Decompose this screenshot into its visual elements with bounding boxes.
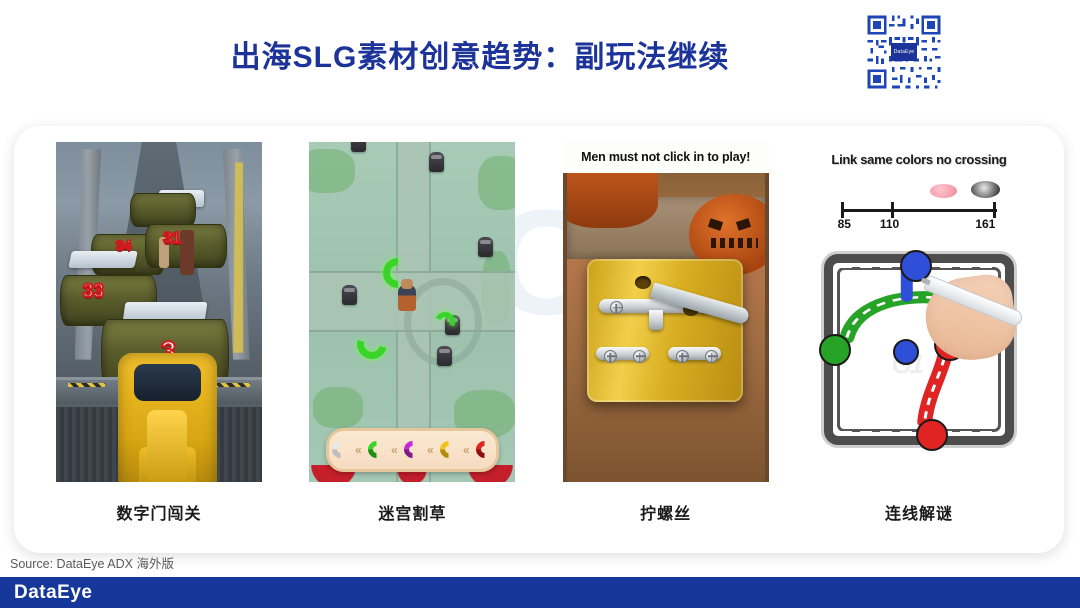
meter-tick [993,202,996,218]
enemy-ninja [342,285,357,305]
chevron-left-icon: « [427,443,434,457]
pumpkin-icon [567,173,658,229]
thumbnail-caption-4: 连线解谜 [885,500,953,524]
mech-robot [118,353,217,482]
link-puzzle-thumbnail[interactable]: Link same colors no crossing 85 110 161 [816,142,1022,482]
puzzle-headline: Link same colors no crossing [816,152,1022,167]
metal-plate [649,310,663,330]
thumbnail-cell-1[interactable]: 33 34 31 3 数字门闯关 [56,142,262,553]
thumbnail-caption-1: 数字门闯关 [116,500,201,524]
blade-slot-yellow[interactable] [436,438,460,462]
screw-icon[interactable] [705,350,718,363]
pumpkin-mouth [711,238,758,248]
gate-number: 31 [163,230,181,248]
footer-bar: DataEye [0,577,1080,608]
blade-upgrade-bar[interactable]: « « « « [326,428,499,472]
ad-banner-text: Men must not click in to play! [563,142,769,173]
iq-meter: 85 110 161 [841,193,998,234]
qr-code[interactable]: DataEye [865,13,943,91]
slide-root: 出海SLG素材创意趋势：副玩法继续 [0,0,1080,608]
gate-number: 33 [83,281,104,303]
mech-right-arm [179,447,196,482]
brain-icon [930,184,957,198]
meter-label-high: 161 [975,217,995,231]
enemy-icon [180,230,194,274]
meter-label-mid: 110 [880,217,899,231]
source-note: Source: DataEye ADX 海外版 [10,553,174,572]
vehicle-icon [69,251,139,268]
thumbnail-cell-2[interactable]: « « « « 迷宫割草 [309,142,515,553]
node-green[interactable] [819,334,851,366]
blade-slot-green[interactable] [364,438,388,462]
genius-portrait-icon [971,181,1001,198]
gate-number: 34 [116,237,132,253]
screw-icon[interactable] [604,350,617,363]
enemy-ninja [429,152,444,172]
grass-patch [478,156,515,210]
grass-patch [309,149,354,193]
enemy-ninja [351,142,366,152]
thumbnail-cell-3[interactable]: Men must not click in to play! [563,142,769,553]
maze-grass-cut-thumbnail[interactable]: « « « « [309,142,515,482]
screw-icon[interactable] [633,350,646,363]
blade-slot-red[interactable] [472,438,496,462]
thumbnail-cell-4[interactable]: Link same colors no crossing 85 110 161 [816,142,1022,553]
hazard-stripe [68,383,105,387]
qr-code-center-label: DataEye [891,43,917,61]
chevron-left-icon: « [355,443,362,457]
halloween-scene [567,173,765,482]
chevron-left-icon: « [463,443,470,457]
chevron-left-icon: « [391,443,398,457]
brand-logo: DataEye [14,582,93,604]
node-red-bottom[interactable] [916,419,948,451]
thumbnail-caption-2: 迷宫割草 [378,500,446,524]
screw-puzzle-thumbnail[interactable]: Men must not click in to play! [563,142,769,482]
enemy-ninja [478,237,493,257]
meter-tick [891,202,894,218]
hazard-stripe [213,383,250,387]
screw-icon[interactable] [676,350,689,363]
sci-fi-runner-thumbnail[interactable]: 33 34 31 3 [56,142,262,482]
grass-patch [313,387,362,428]
meter-tick [841,202,844,218]
puzzle-board[interactable]: G1 [824,254,1014,444]
thumbnail-grid: 33 34 31 3 数字门闯关 [14,126,1064,553]
screw-hole [635,276,651,289]
barrel-obstacle [130,193,196,227]
meter-label-low: 85 [838,217,851,231]
mech-left-arm [139,447,156,482]
thumbnail-caption-3: 拧螺丝 [640,500,691,524]
meter-line [841,209,998,212]
content-card: OCV 33 [14,126,1064,553]
blade-slot-purple[interactable] [400,438,424,462]
blade-slot-white[interactable] [328,438,352,462]
enemy-ninja [437,346,452,366]
gold-panel[interactable] [587,259,743,401]
player-character [398,285,416,311]
